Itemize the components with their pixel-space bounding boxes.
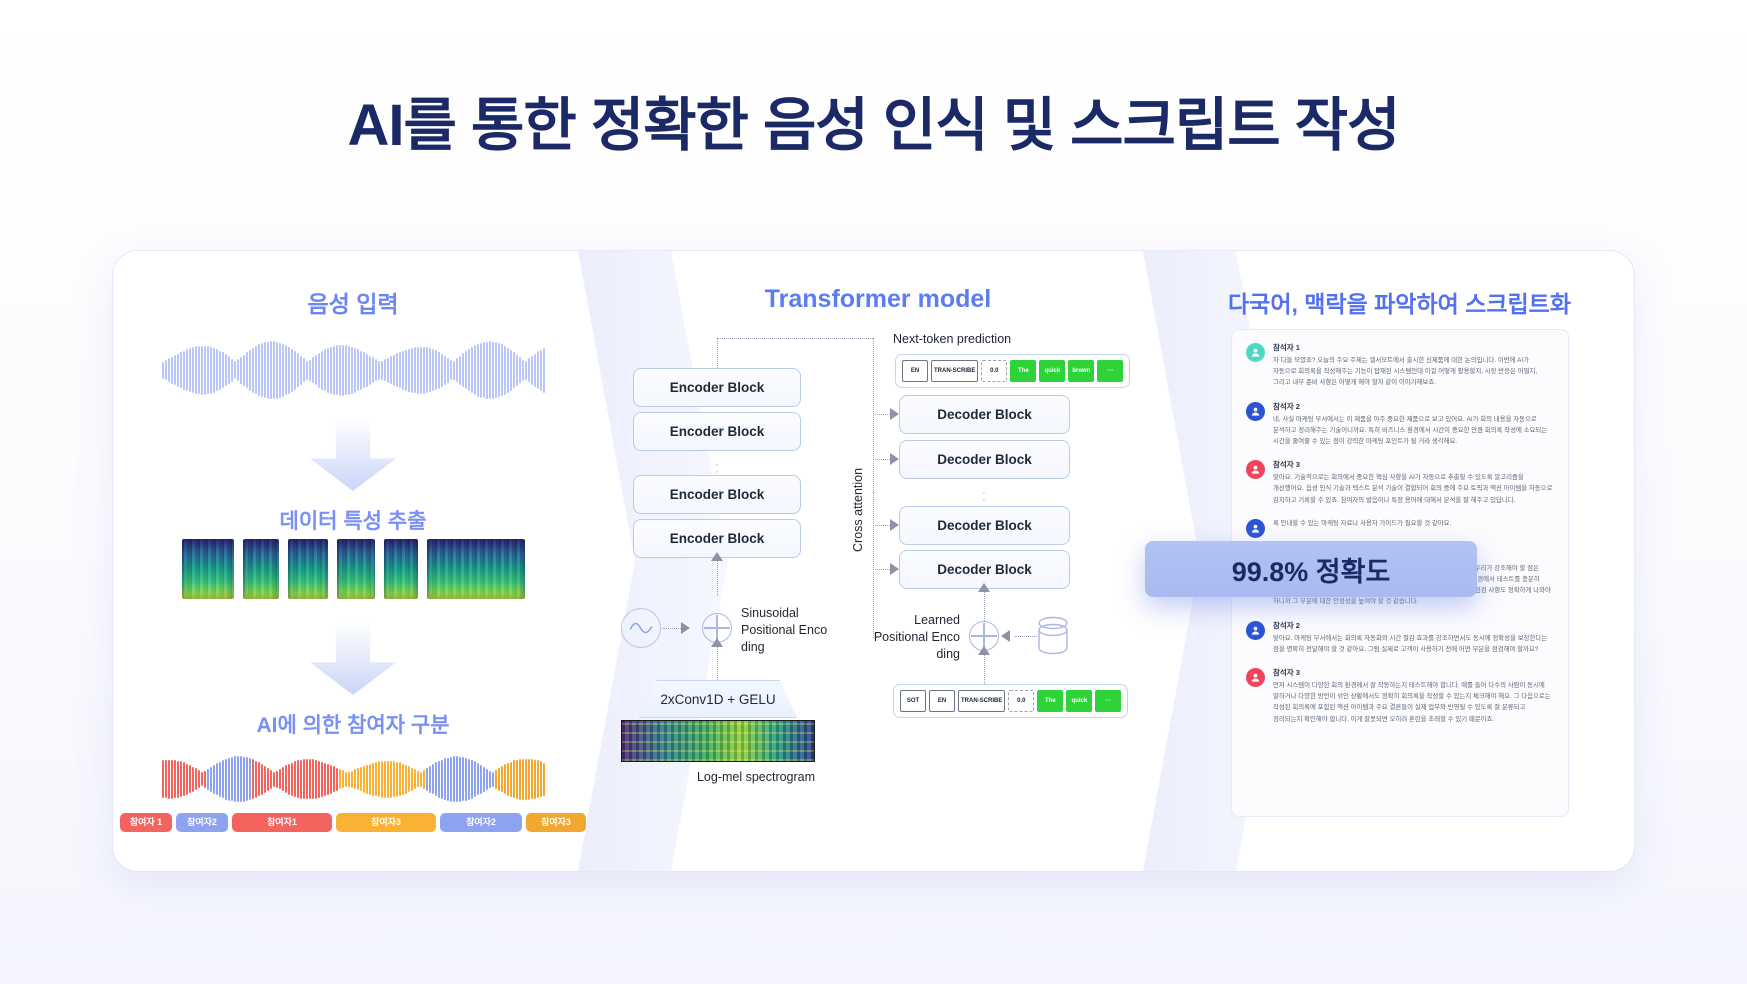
cross-arrow-icon <box>890 408 899 420</box>
waveform-bar <box>429 766 431 793</box>
waveform-bar <box>435 350 437 390</box>
waveform-bar <box>432 764 434 794</box>
waveform-bar <box>324 349 326 391</box>
waveform-bar <box>441 760 443 799</box>
waveform-bar <box>429 348 431 392</box>
waveform-bar <box>336 345 338 395</box>
waveform-bar <box>456 358 458 382</box>
waveform-bar <box>390 356 392 384</box>
slide-root: AI를 통한 정확한 음성 인식 및 스크립트 작성 음성 입력 데이터 특성 … <box>0 0 1747 984</box>
transcript-message: 참석자 1자 다들 모였죠? 오늘의 주요 주제는 엘서모트에서 출시한 신제품… <box>1246 342 1554 389</box>
waveform-bar <box>276 342 278 399</box>
token-cell: ··· <box>1097 360 1123 382</box>
decoder-input-line <box>984 589 985 621</box>
waveform-bar <box>318 353 320 388</box>
waveform-bar <box>267 342 269 399</box>
waveform-bar <box>273 341 275 399</box>
waveform-bar <box>324 763 326 796</box>
waveform-bar <box>201 772 203 786</box>
waveform-bar <box>291 349 293 392</box>
transcript-message: 참석자 2네, 사실 마케팅 부서에서는 이 제품을 아주 중요한 제품으로 보… <box>1246 401 1554 448</box>
waveform-bar <box>276 771 278 788</box>
waveform-bar <box>351 771 353 788</box>
spectrogram-patch <box>182 539 234 599</box>
waveform-bar <box>366 765 368 794</box>
waveform-bar <box>399 762 401 796</box>
waveform-bar <box>450 757 452 802</box>
waveform-bar <box>381 361 383 380</box>
waveform-bar <box>192 347 194 393</box>
waveform-bar <box>342 770 344 788</box>
waveform-bar <box>411 768 413 791</box>
token-cell: The <box>1037 690 1063 712</box>
waveform-bar <box>192 767 194 792</box>
waveform-bar <box>360 767 362 791</box>
transcript-speaker-name: 참석자 1 <box>1273 342 1554 353</box>
waveform-bar <box>459 757 461 802</box>
waveform-bar <box>210 347 212 394</box>
conv-gelu-block: 2xConv1D + GELU <box>639 680 797 718</box>
waveform-bar <box>318 761 320 798</box>
waveform-bar <box>465 351 467 389</box>
waveform-bar <box>315 355 317 385</box>
waveform-bar <box>393 355 395 386</box>
waveform-bar <box>411 348 413 393</box>
waveform-bar <box>468 759 470 800</box>
waveform-bar <box>402 764 404 795</box>
transcript-message-body: 참석자 3먼저 시스템이 다양한 회의 환경에서 잘 작동하는지 테스트해야 합… <box>1273 667 1554 725</box>
waveform-bar <box>171 760 173 799</box>
avatar <box>1246 402 1265 421</box>
waveform-bar <box>264 342 266 398</box>
waveform-bar <box>402 351 404 390</box>
waveform-bar <box>465 758 467 801</box>
waveform-bar <box>252 759 254 799</box>
waveform-bar <box>219 351 221 390</box>
waveform-bar <box>372 357 374 383</box>
arrow-down-icon-1 <box>310 417 396 491</box>
log-mel-caption: Log-mel spectrogram <box>471 770 1041 784</box>
waveform-bar <box>198 770 200 788</box>
waveform-bar <box>405 350 407 391</box>
waveform-bar <box>261 764 263 795</box>
waveform-bar <box>345 772 347 787</box>
waveform-bar <box>435 762 437 796</box>
waveform-bar <box>453 756 455 802</box>
transcript-message-text: 맞아요. 기술적으로는 회의에서 중요한 핵심 사항을 AI가 자동으로 추출할… <box>1273 472 1554 506</box>
waveform-bar <box>162 362 164 379</box>
waveform-bar <box>165 360 167 380</box>
accuracy-badge: 99.8% 정확도 <box>1145 541 1477 597</box>
transcript-speaker-name: 참석자 3 <box>1273 459 1554 470</box>
sine-arrow-icon <box>681 622 690 634</box>
transformer-diagram: Encoder Block Encoder Block ··· Encoder … <box>593 322 1163 852</box>
waveform-bar <box>522 360 524 381</box>
database-icon <box>1036 616 1070 656</box>
waveform-bar <box>348 346 350 395</box>
waveform-bar <box>303 759 305 799</box>
transcript-message: 참석자 2맞아요. 마케팅 부서에서는 회의록 자동화와 시간 절감 효과를 강… <box>1246 620 1554 655</box>
waveform-bar <box>354 769 356 789</box>
spectrogram-patch <box>288 539 328 599</box>
waveform-bar <box>534 354 536 387</box>
waveform-bar <box>195 346 197 394</box>
waveform-bar <box>315 760 317 799</box>
transcript-message-body: 참석자 2맞아요. 마케팅 부서에서는 회의록 자동화와 시간 절감 효과를 강… <box>1273 620 1554 655</box>
encoder-to-bus-line <box>717 338 873 339</box>
waveform-bar <box>396 353 398 387</box>
waveform-bar <box>294 761 296 797</box>
waveform-bar <box>183 762 185 796</box>
waveform-bar <box>414 769 416 789</box>
waveform-bar <box>330 347 332 394</box>
waveform-bar <box>267 768 269 791</box>
waveform-bar <box>240 357 242 384</box>
transcript-message-body: 록 안내할 수 있는 마케팅 자료나 사용자 가이드가 필요할 것 같아요. <box>1273 518 1554 538</box>
waveform-bar <box>168 760 170 799</box>
waveform-bar <box>507 348 509 393</box>
waveform-bar <box>360 351 362 390</box>
waveform-bar <box>348 772 350 787</box>
next-token-prediction-label: Next-token prediction <box>893 332 1011 346</box>
cross-arrow-icon <box>890 563 899 575</box>
waveform-bar <box>297 760 299 798</box>
waveform-bar <box>321 351 323 390</box>
waveform-bar <box>261 343 263 397</box>
waveform-bar <box>255 761 257 798</box>
waveform-bar <box>408 766 410 792</box>
waveform-bar <box>366 354 368 387</box>
waveform-bar <box>408 349 410 392</box>
waveform-bar <box>207 346 209 394</box>
waveform-bar <box>393 761 395 797</box>
waveform-bar <box>249 350 251 391</box>
decoder-token-line <box>984 652 985 684</box>
waveform-bar <box>468 349 470 391</box>
waveform-bar <box>516 355 518 386</box>
token-cell: The <box>1010 360 1036 382</box>
page-title: AI를 통한 정확한 음성 인식 및 스크립트 작성 <box>0 78 1747 162</box>
waveform-bar <box>180 761 182 797</box>
waveform-bar <box>453 361 455 380</box>
token-row-bottom: SOTENTRAN-SCRIBE0.0Thequick··· <box>893 684 1128 718</box>
main-card: 음성 입력 데이터 특성 추출 AI에 의한 참여자 구분 참여자 1참여자2참… <box>112 250 1635 872</box>
transcript-message-text: 네, 사실 마케팅 부서에서는 이 제품을 아주 중요한 제품으로 보고 있어요… <box>1273 414 1554 448</box>
waveform-bar <box>531 356 533 385</box>
waveform-bar <box>234 756 236 802</box>
speaker-chip-row: 참여자 1참여자2참여자1참여자3참여자2참여자3 <box>113 813 593 832</box>
token-cell: TRAN-SCRIBE <box>958 690 1005 712</box>
waveform-bar <box>279 769 281 789</box>
waveform-bar <box>441 354 443 387</box>
waveform-bar <box>444 356 446 385</box>
waveform-bar <box>417 771 419 787</box>
waveform-bar <box>426 347 428 393</box>
sine-wave-icon <box>621 608 661 648</box>
waveform-bar <box>336 768 338 791</box>
token-cell: EN <box>929 690 955 712</box>
decoder-block: Decoder Block <box>899 506 1070 545</box>
transcript-message: 참석자 3먼저 시스템이 다양한 회의 환경에서 잘 작동하는지 테스트해야 합… <box>1246 667 1554 725</box>
waveform-bar <box>399 352 401 388</box>
waveform-bar <box>438 352 440 389</box>
waveform-bar <box>420 772 422 787</box>
encoder-output-line <box>717 338 718 368</box>
waveform-bar <box>471 347 473 393</box>
waveform-bar <box>306 759 308 799</box>
waveform-bar <box>282 767 284 791</box>
waveform-bar <box>294 351 296 390</box>
waveform-bar <box>171 357 173 384</box>
learned-positional-encoding-label: Learned Positional Enco ding <box>865 612 960 663</box>
waveform-bar <box>168 358 170 382</box>
waveform-bar <box>282 344 284 397</box>
waveform-bar <box>255 346 257 394</box>
waveform-bar <box>474 345 476 395</box>
waveform-bar <box>423 770 425 789</box>
transcript-speaker-name: 참석자 3 <box>1273 667 1554 678</box>
waveform-bar <box>339 345 341 396</box>
waveform-bar <box>300 356 302 385</box>
token-cell: TRAN-SCRIBE <box>931 360 978 382</box>
cross-arrow-icon <box>890 519 899 531</box>
waveform-bar <box>270 770 272 789</box>
token-row-top: ENTRAN-SCRIBE0.0Thequickbrown··· <box>895 354 1130 388</box>
encoder-block: Encoder Block <box>633 368 801 407</box>
waveform-bar <box>258 344 260 396</box>
waveform-bar <box>450 360 452 380</box>
speaker-chip[interactable]: 참여자2 <box>176 813 228 832</box>
token-cell: ··· <box>1095 690 1121 712</box>
waveform-bar <box>510 350 512 391</box>
waveform-bar <box>216 349 218 391</box>
waveform-bar <box>369 764 371 795</box>
waveform-bar <box>213 348 215 393</box>
transcript-message-text: 록 안내할 수 있는 마케팅 자료나 사용자 가이드가 필요할 것 같아요. <box>1273 518 1554 529</box>
waveform-bar <box>303 358 305 382</box>
token-cell: quick <box>1039 360 1065 382</box>
waveform-bar <box>252 348 254 393</box>
waveform-bar <box>456 756 458 802</box>
feature-extraction-heading: 데이터 특성 추출 <box>113 505 593 535</box>
transcript-speaker-name: 참석자 2 <box>1273 401 1554 412</box>
avatar <box>1246 668 1265 687</box>
waveform-bar <box>228 356 230 384</box>
waveform-bar <box>357 768 359 790</box>
waveform-bar <box>285 765 287 793</box>
waveform-bar <box>513 352 515 388</box>
waveform-bar <box>243 757 245 802</box>
waveform-bar <box>258 762 260 796</box>
waveform-bar <box>270 341 272 399</box>
waveform-bar <box>378 761 380 797</box>
waveform-bar <box>501 344 503 396</box>
waveform-bar <box>174 760 176 798</box>
avatar <box>1246 519 1265 538</box>
transcript-message-body: 참석자 2네, 사실 마케팅 부서에서는 이 제품을 아주 중요한 제품으로 보… <box>1273 401 1554 448</box>
waveform-bar <box>519 357 521 383</box>
waveform-bar <box>186 764 188 795</box>
waveform-bar <box>243 355 245 386</box>
waveform-bar <box>246 352 248 388</box>
voice-input-heading: 음성 입력 <box>113 285 593 319</box>
waveform-bar <box>492 342 494 399</box>
waveform-bar <box>183 351 185 390</box>
learned-pe-arrow-icon <box>1001 630 1010 642</box>
waveform-bar <box>396 762 398 797</box>
waveform-bar <box>537 351 539 389</box>
speaker-chip[interactable]: 참여자2 <box>440 813 522 832</box>
waveform-bar <box>432 349 434 391</box>
cross-arrow-icon <box>890 453 899 465</box>
transcript-heading: 다국어, 맥락을 파악하여 스크립트화 <box>1163 285 1635 319</box>
waveform-bar <box>387 761 389 798</box>
waveform-bar <box>234 361 236 379</box>
waveform-bar <box>249 758 251 800</box>
transcript-speaker-name: 참석자 2 <box>1273 620 1554 631</box>
waveform-bar <box>363 352 365 388</box>
waveform-bar <box>333 766 335 792</box>
decoder-block: Decoder Block <box>899 395 1070 434</box>
waveform-bar <box>384 761 386 798</box>
waveform-bar <box>264 766 266 793</box>
waveform-bar <box>489 341 491 399</box>
waveform-bar <box>420 347 422 394</box>
waveform-bar <box>300 760 302 799</box>
waveform-bar <box>246 757 248 801</box>
speaker-chip[interactable]: 참여자3 <box>336 813 436 832</box>
waveform-bar <box>543 348 545 393</box>
waveform-bar <box>381 761 383 798</box>
waveform-bar <box>201 346 203 395</box>
token-cell: 0.0 <box>981 360 1007 382</box>
waveform-bar <box>309 759 311 799</box>
conv-to-add-line <box>717 644 718 680</box>
token-cell: EN <box>902 360 928 382</box>
avatar <box>1246 343 1265 362</box>
waveform-bar <box>273 772 275 787</box>
waveform-bar <box>462 353 464 387</box>
waveform-bar <box>477 344 479 397</box>
waveform-bar <box>357 349 359 391</box>
waveform-bar <box>174 355 176 385</box>
decoder-token-arrow-icon <box>978 646 990 655</box>
waveform-bar <box>162 760 164 798</box>
transcript-message-text: 자 다들 모였죠? 오늘의 주요 주제는 엘서모트에서 출시한 신제품에 대한 … <box>1273 355 1554 389</box>
speaker-chip[interactable]: 참여자3 <box>526 813 586 832</box>
waveform-bar <box>204 346 206 395</box>
cross-bus-ellipsis: ·· <box>869 490 879 504</box>
transcript-message-body: 참석자 1자 다들 모였죠? 오늘의 주요 주제는 엘서모트에서 출시한 신제품… <box>1273 342 1554 389</box>
waveform-bar <box>405 765 407 794</box>
transcript-message-body: 참석자 3맞아요. 기술적으로는 회의에서 중요한 핵심 사항을 AI가 자동으… <box>1273 459 1554 506</box>
waveform-bar <box>189 348 191 392</box>
waveform-bar <box>330 765 332 794</box>
waveform-bar <box>231 757 233 801</box>
waveform-bar <box>372 763 374 796</box>
waveform-bar <box>444 758 446 800</box>
token-cell: 0.0 <box>1008 690 1034 712</box>
spectrogram-strip-group <box>113 539 593 599</box>
encoder-block: Encoder Block <box>633 412 801 451</box>
log-mel-spectrogram <box>621 720 815 762</box>
waveform-bar <box>378 361 380 380</box>
token-cell: brown <box>1068 360 1094 382</box>
waveform-bar <box>375 359 377 381</box>
speaker-chip[interactable]: 참여자 1 <box>120 813 172 832</box>
token-cell: quick <box>1066 690 1092 712</box>
waveform-bar <box>525 361 527 380</box>
waveform-bar <box>288 347 290 394</box>
waveform-bar <box>480 343 482 398</box>
waveform-bar <box>384 359 386 381</box>
column-transcript: 다국어, 맥락을 파악하여 스크립트화 참석자 1자 다들 모였죠? 오늘의 주… <box>1163 251 1635 871</box>
decoder-block: Decoder Block <box>899 440 1070 479</box>
waveform-input <box>113 337 593 403</box>
waveform-bar <box>309 360 311 381</box>
waveform-bar <box>219 762 221 797</box>
waveform-bar <box>222 760 224 798</box>
waveform-bar <box>180 352 182 388</box>
diarization-heading: AI에 의한 참여자 구분 <box>113 709 593 739</box>
spectrogram-patch <box>384 539 418 599</box>
transcript-message-text: 먼저 시스템이 다양한 회의 환경에서 잘 작동하는지 테스트해야 합니다. 예… <box>1273 680 1554 725</box>
waveform-bar <box>447 358 449 383</box>
waveform-bar <box>306 361 308 380</box>
waveform-bar <box>486 342 488 399</box>
transcript-message-text: 맞아요. 마케팅 부서에서는 회의록 자동화와 시간 절감 효과를 강조하면서도… <box>1273 633 1554 655</box>
waveform-bar <box>228 758 230 801</box>
spectrogram-patch <box>427 539 525 599</box>
waveform-bar <box>312 357 314 383</box>
waveform-bar <box>207 769 209 790</box>
waveform-bar <box>237 756 239 802</box>
waveform-bar <box>447 758 449 801</box>
learned-pe-source-line <box>1015 636 1037 637</box>
waveform-bar <box>540 350 542 391</box>
waveform-bar <box>423 347 425 394</box>
waveform-bar <box>225 354 227 386</box>
transcript-message: 참석자 3맞아요. 기술적으로는 회의에서 중요한 핵심 사항을 AI가 자동으… <box>1246 459 1554 506</box>
waveform-bar <box>363 766 365 793</box>
waveform-bar <box>165 760 167 798</box>
waveform-bar <box>327 764 329 795</box>
waveform-bar <box>498 343 500 397</box>
waveform-bar <box>459 356 461 385</box>
waveform-bar <box>438 761 440 798</box>
waveform-bar <box>225 759 227 800</box>
sinusoidal-positional-encoding-label: Sinusoidal Positional Enco ding <box>741 605 836 656</box>
waveform-bar <box>426 768 428 791</box>
waveform-bar <box>279 343 281 398</box>
waveform-bar <box>288 764 290 795</box>
waveform-bar <box>339 769 341 789</box>
waveform-bar <box>198 346 200 394</box>
encoder-block: Encoder Block <box>633 475 801 514</box>
spectrogram-patch <box>243 539 279 599</box>
waveform-bar <box>222 352 224 388</box>
speaker-chip[interactable]: 참여자1 <box>232 813 332 832</box>
waveform-bar <box>462 757 464 801</box>
decoder-input-arrow-icon <box>978 583 990 592</box>
waveform-bar <box>333 346 335 395</box>
waveform-bar <box>186 349 188 391</box>
waveform-bar <box>291 763 293 796</box>
encoder-input-line <box>717 558 718 596</box>
waveform-bar <box>387 358 389 383</box>
waveform-bar <box>354 348 356 393</box>
cross-attention-label: Cross attention <box>851 468 865 552</box>
